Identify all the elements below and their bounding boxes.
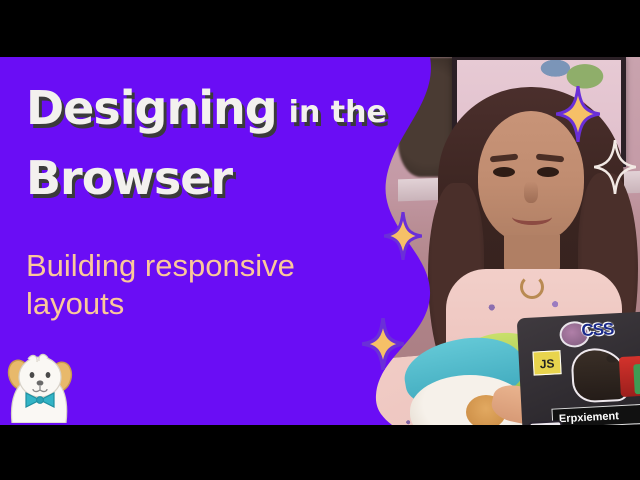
- page-title-line1: Designingin the: [26, 81, 387, 135]
- sparkle-icon-4: [362, 318, 404, 370]
- sparkle-icon-1: [556, 86, 600, 142]
- title-main: Designing: [26, 81, 277, 135]
- cartoon-dog-logo: [4, 345, 78, 423]
- subtitle: Building responsive layouts: [26, 247, 386, 323]
- page-title-line2: Browser: [26, 151, 232, 205]
- letterbox-top: [0, 0, 640, 57]
- sparkle-icon-3: [384, 212, 422, 260]
- nose: [524, 181, 538, 203]
- js-sticker: JS: [532, 350, 561, 375]
- necklace: [520, 275, 544, 299]
- css-sticker: CSS: [581, 319, 614, 341]
- eye-left: [493, 167, 515, 177]
- title-small: in the: [289, 95, 387, 130]
- eye-right: [537, 167, 559, 177]
- letterbox-bottom: [0, 425, 640, 480]
- erpxiement-sticker: Erpxiement: [551, 403, 640, 425]
- sparkle-icon-2: [594, 140, 636, 194]
- smile: [512, 209, 552, 225]
- thumbnail-canvas: CSS JS Erpxiement CENTERED x x Designing…: [0, 0, 640, 480]
- green-sticker: [633, 364, 640, 395]
- laptop: CSS JS Erpxiement CENTERED x x: [517, 312, 640, 425]
